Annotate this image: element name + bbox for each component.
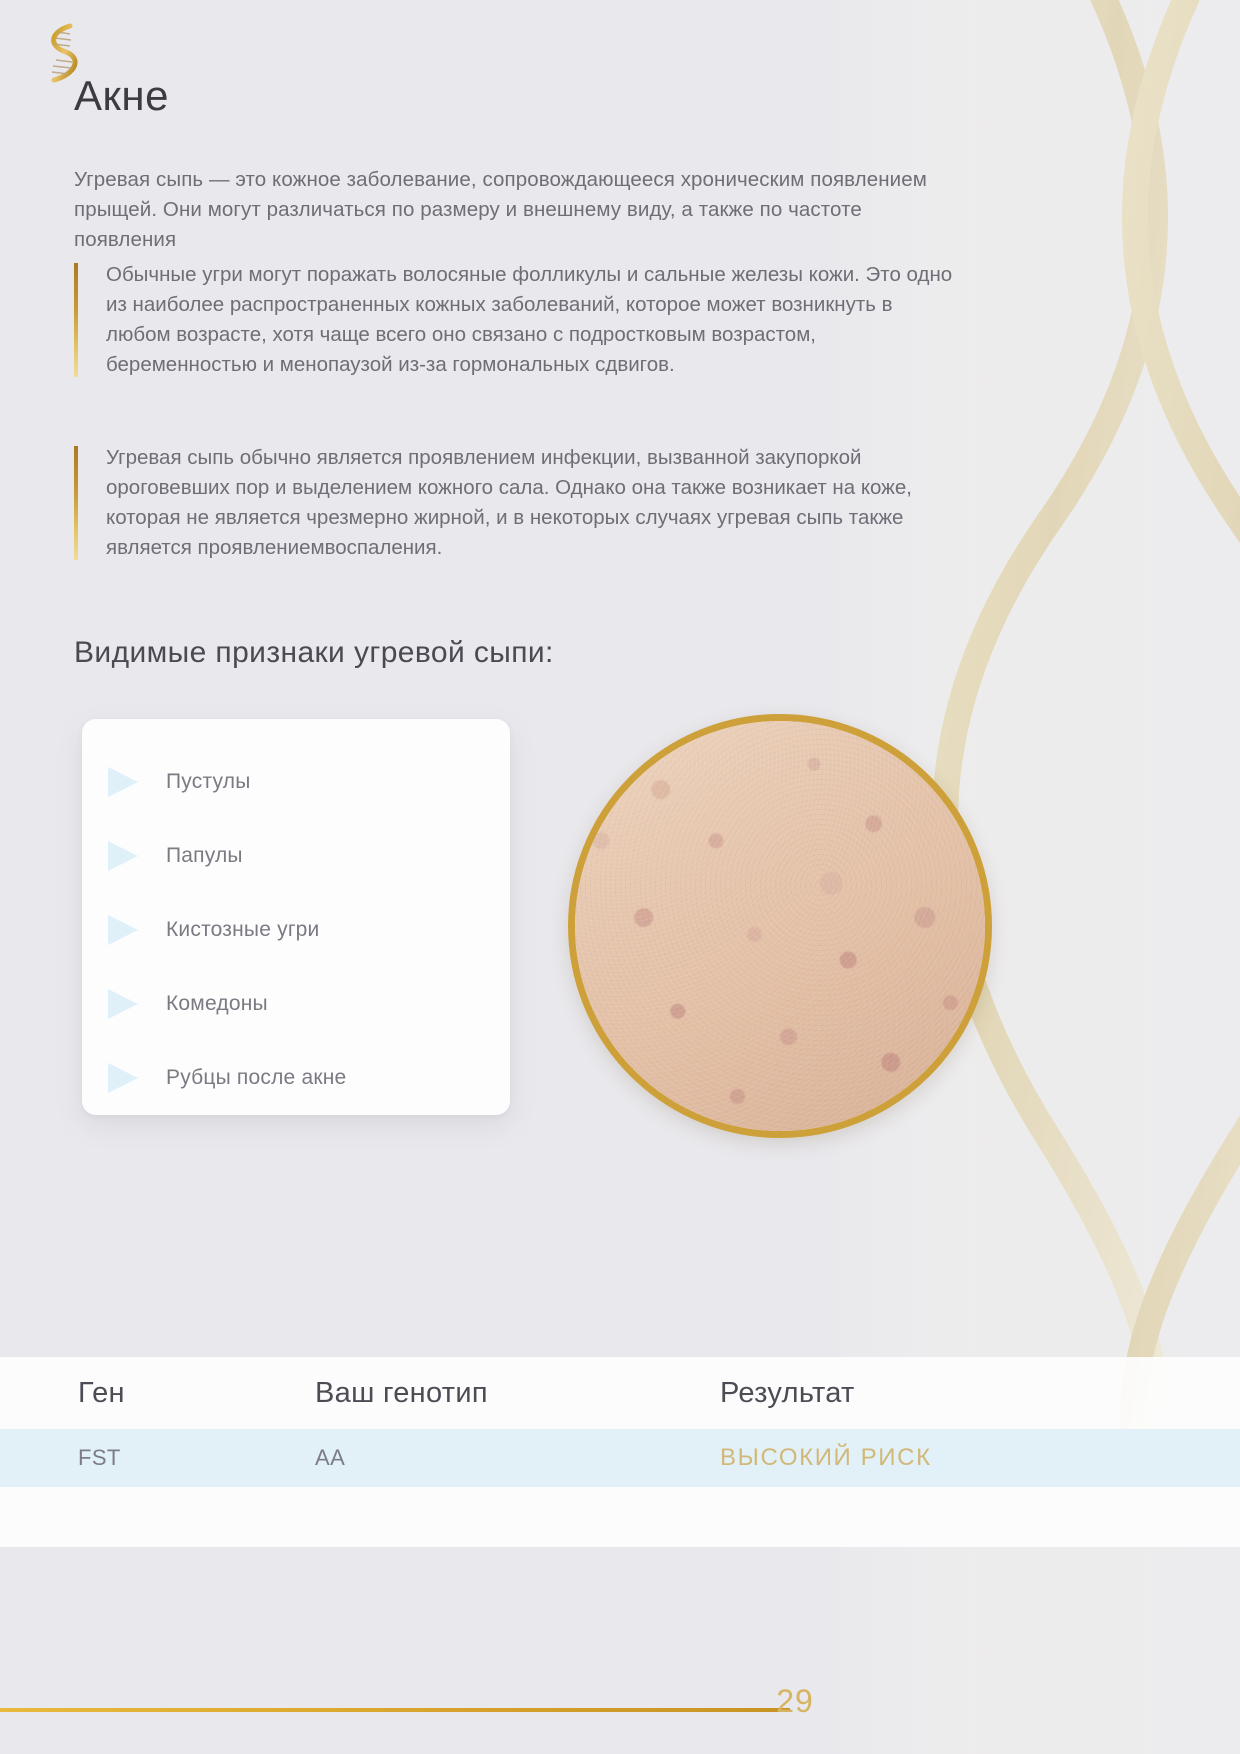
list-item-label: Папулы <box>166 844 243 868</box>
triangle-arrow-icon <box>108 767 154 797</box>
triangle-arrow-icon <box>108 841 154 871</box>
skin-grain-overlay <box>575 721 985 1131</box>
page-number: 29 <box>735 1683 855 1720</box>
report-page: Акне Угревая сыпь — это кожное заболеван… <box>0 0 1240 1754</box>
list-item-label: Рубцы после акне <box>166 1066 346 1090</box>
list-item: Комедоны <box>82 967 510 1041</box>
table-header-result: Результат <box>720 1377 1240 1410</box>
triangle-arrow-icon <box>108 1063 154 1093</box>
results-table: Ген Ваш генотип Результат FST AA ВЫСОКИЙ… <box>0 1357 1240 1547</box>
triangle-arrow-icon <box>108 989 154 1019</box>
list-item-label: Кистозные угри <box>166 918 320 942</box>
table-header-genotype: Ваш генотип <box>315 1377 720 1410</box>
list-item-label: Пустулы <box>166 770 251 794</box>
table-header-gene: Ген <box>0 1377 315 1410</box>
visible-signs-card: Пустулы Папулы Кистозные угри Комедоны Р… <box>82 719 510 1115</box>
list-item: Рубцы после акне <box>82 1041 510 1115</box>
list-item: Пустулы <box>82 745 510 819</box>
list-item: Папулы <box>82 819 510 893</box>
footer-gold-rule <box>0 1708 790 1712</box>
triangle-arrow-icon <box>108 915 154 945</box>
list-item-label: Комедоны <box>166 992 268 1016</box>
table-row: FST AA ВЫСОКИЙ РИСК <box>0 1429 1240 1487</box>
table-footer-spacer <box>0 1487 1240 1547</box>
status-badge-risk: ВЫСОКИЙ РИСК <box>720 1444 1240 1472</box>
quote-block-common-acne: Обычные угри могут поражать волосяные фо… <box>74 260 954 380</box>
page-title: Акне <box>74 72 169 120</box>
table-cell-gene: FST <box>0 1445 315 1471</box>
intro-paragraph: Угревая сыпь — это кожное заболевание, с… <box>74 165 954 255</box>
acne-skin-closeup-photo <box>568 714 992 1138</box>
table-header-row: Ген Ваш генотип Результат <box>0 1357 1240 1429</box>
signs-section-heading: Видимые признаки угревой сыпи: <box>74 636 554 670</box>
table-cell-genotype: AA <box>315 1445 720 1471</box>
quote-block-infection: Угревая сыпь обычно является проявлением… <box>74 443 954 563</box>
list-item: Кистозные угри <box>82 893 510 967</box>
